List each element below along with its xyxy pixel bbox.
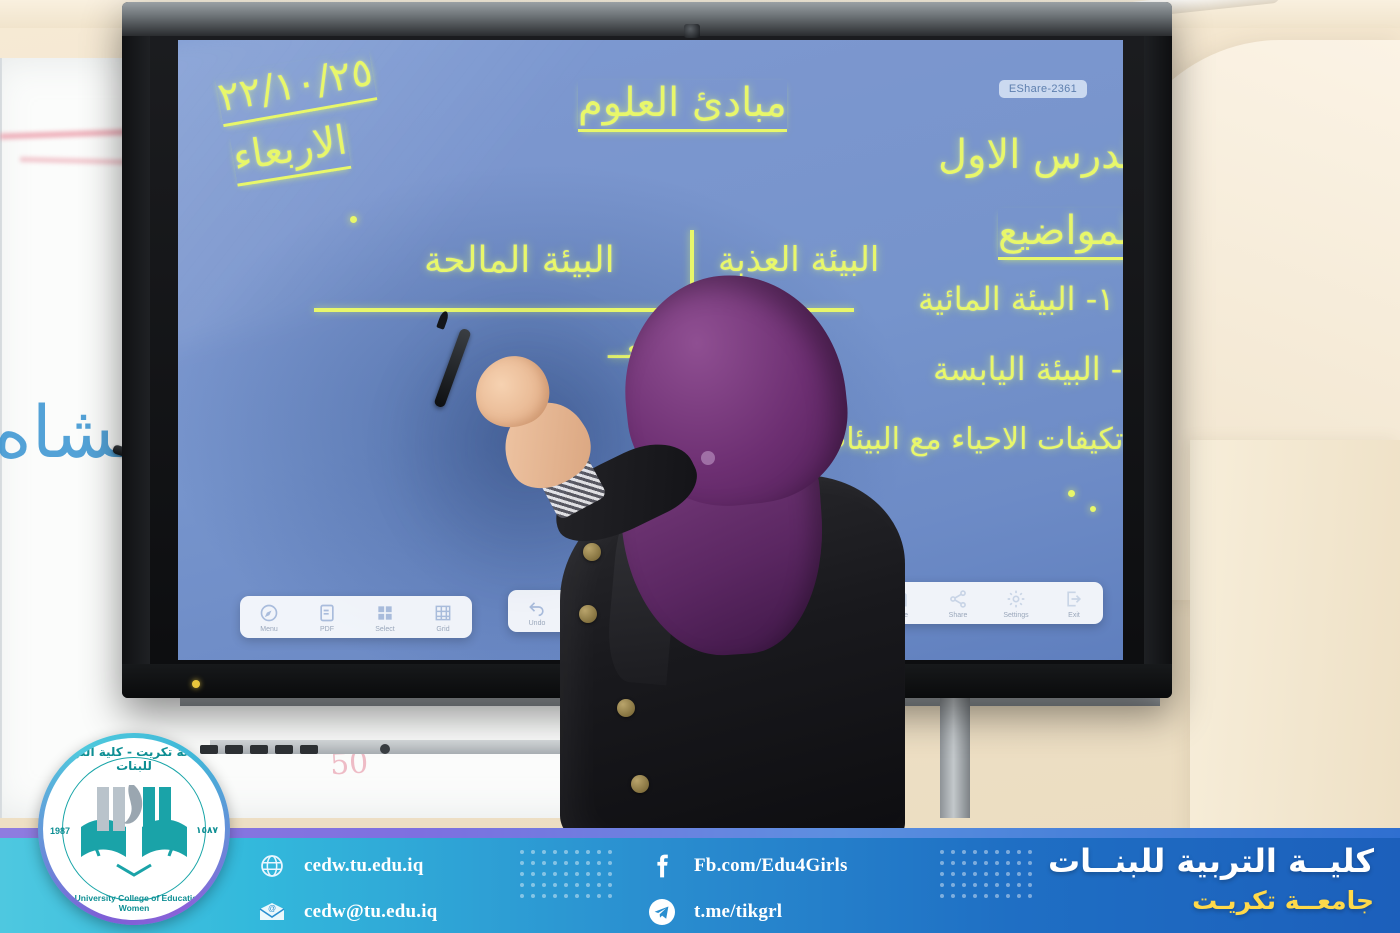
instructor	[505, 275, 925, 835]
dot-pattern	[520, 850, 619, 905]
svg-text:@: @	[268, 904, 276, 913]
gear-icon	[1006, 589, 1026, 609]
document-icon	[317, 603, 337, 623]
footer-telegram-row[interactable]: t.me/tikgrl	[648, 898, 848, 926]
toolbar-label: PDF	[320, 626, 334, 633]
blazer-button	[579, 605, 597, 623]
handwriting-topics-heading: المواضيع	[998, 208, 1123, 260]
toolbar-button-share[interactable]: Share	[929, 582, 987, 624]
footer-facebook-text: Fb.com/Edu4Girls	[694, 855, 848, 877]
toolbar-button-settings[interactable]: Settings	[987, 582, 1045, 624]
footer-email-text: cedw@tu.edu.iq	[304, 901, 437, 923]
status-badge: EShare-2361	[999, 80, 1087, 98]
screenshot-root: مشاه 50 EShare-2361 ٢٢/١٠/٢٥ الاربعاء مب…	[0, 0, 1400, 933]
smartboard-left-bezel	[122, 36, 150, 664]
handwriting-subject-title: مبادئ العلوم	[578, 80, 787, 132]
footer-website-text: cedw.tu.edu.iq	[304, 855, 423, 877]
footer-telegram-text: t.me/tikgrl	[694, 901, 782, 923]
facebook-icon	[648, 852, 676, 880]
globe-icon	[258, 852, 286, 880]
toolbar-button-menu[interactable]: Menu	[240, 596, 298, 638]
power-icon[interactable]	[380, 744, 390, 754]
logo-ring	[62, 757, 206, 901]
logo-year-en: 1987	[50, 826, 70, 836]
blazer-button	[631, 775, 649, 793]
toolbar-button-exit[interactable]: Exit	[1045, 582, 1103, 624]
footer-university-name: جامعــة تكريـت	[1048, 886, 1374, 915]
smartboard-stand-leg	[940, 698, 970, 818]
port	[250, 745, 268, 754]
exit-icon	[1064, 589, 1084, 609]
hijab-pin	[701, 451, 715, 465]
compass-icon	[259, 603, 279, 623]
toolbar-label: Select	[375, 626, 394, 633]
blazer-button	[583, 543, 601, 561]
footer-social-group: Fb.com/Edu4Girls t.me/tikgrl	[648, 852, 848, 926]
port	[275, 745, 293, 754]
toolbar-label: Share	[949, 612, 968, 619]
footer-institution-block: كليــة التربية للبنــات جامعــة تكريـت	[1048, 842, 1374, 915]
status-led	[192, 680, 200, 688]
handwriting-topic-item: ٢- البيئة اليابسة	[933, 350, 1123, 388]
table-header-right: البيئة العذبة	[718, 240, 879, 280]
logo-arabic-text: جامعة تكريت - كلية التربية للبنات	[43, 745, 225, 773]
dot-pattern	[940, 850, 1039, 905]
footer-email-row[interactable]: @ cedw@tu.edu.iq	[258, 898, 437, 926]
blazer-button	[617, 699, 635, 717]
toolbar-label: Menu	[260, 626, 278, 633]
university-logo: جامعة تكريت - كلية التربية للبنات Tikrit…	[38, 733, 230, 925]
logo-year-ar: ١٥٨٧	[196, 826, 218, 836]
smartboard-right-bezel	[1144, 36, 1172, 664]
footer-contact-group: cedw.tu.edu.iq @ cedw@tu.edu.iq	[258, 852, 437, 926]
toolbar-label: Settings	[1003, 612, 1028, 619]
toolbar-label: Grid	[436, 626, 449, 633]
toolbar-label: Exit	[1068, 612, 1080, 619]
handwriting-topic-item: ١- البيئة المائية	[918, 280, 1114, 318]
wall-column	[1190, 440, 1400, 860]
select-icon	[375, 603, 395, 623]
email-icon: @	[258, 898, 286, 926]
share-icon	[948, 589, 968, 609]
camera-icon	[684, 24, 700, 38]
logo-english-text: Tikrit University College of Education f…	[43, 893, 225, 913]
port	[300, 745, 318, 754]
smartboard-top-bezel	[122, 2, 1172, 36]
ink-dot	[1068, 490, 1075, 497]
telegram-icon	[648, 898, 676, 926]
port	[225, 745, 243, 754]
toolbar-button-pdf[interactable]: PDF	[298, 596, 356, 638]
logo-inner: جامعة تكريت - كلية التربية للبنات Tikrit…	[43, 738, 225, 920]
grid-icon	[433, 603, 453, 623]
footer-website-row[interactable]: cedw.tu.edu.iq	[258, 852, 437, 880]
footer-college-name: كليــة التربية للبنــات	[1048, 842, 1374, 880]
ink-dot	[1090, 506, 1096, 512]
footer-facebook-row[interactable]: Fb.com/Edu4Girls	[648, 852, 848, 880]
handwriting-lesson-heading: الدرس الاول	[938, 132, 1123, 178]
ink-dot	[350, 216, 357, 223]
